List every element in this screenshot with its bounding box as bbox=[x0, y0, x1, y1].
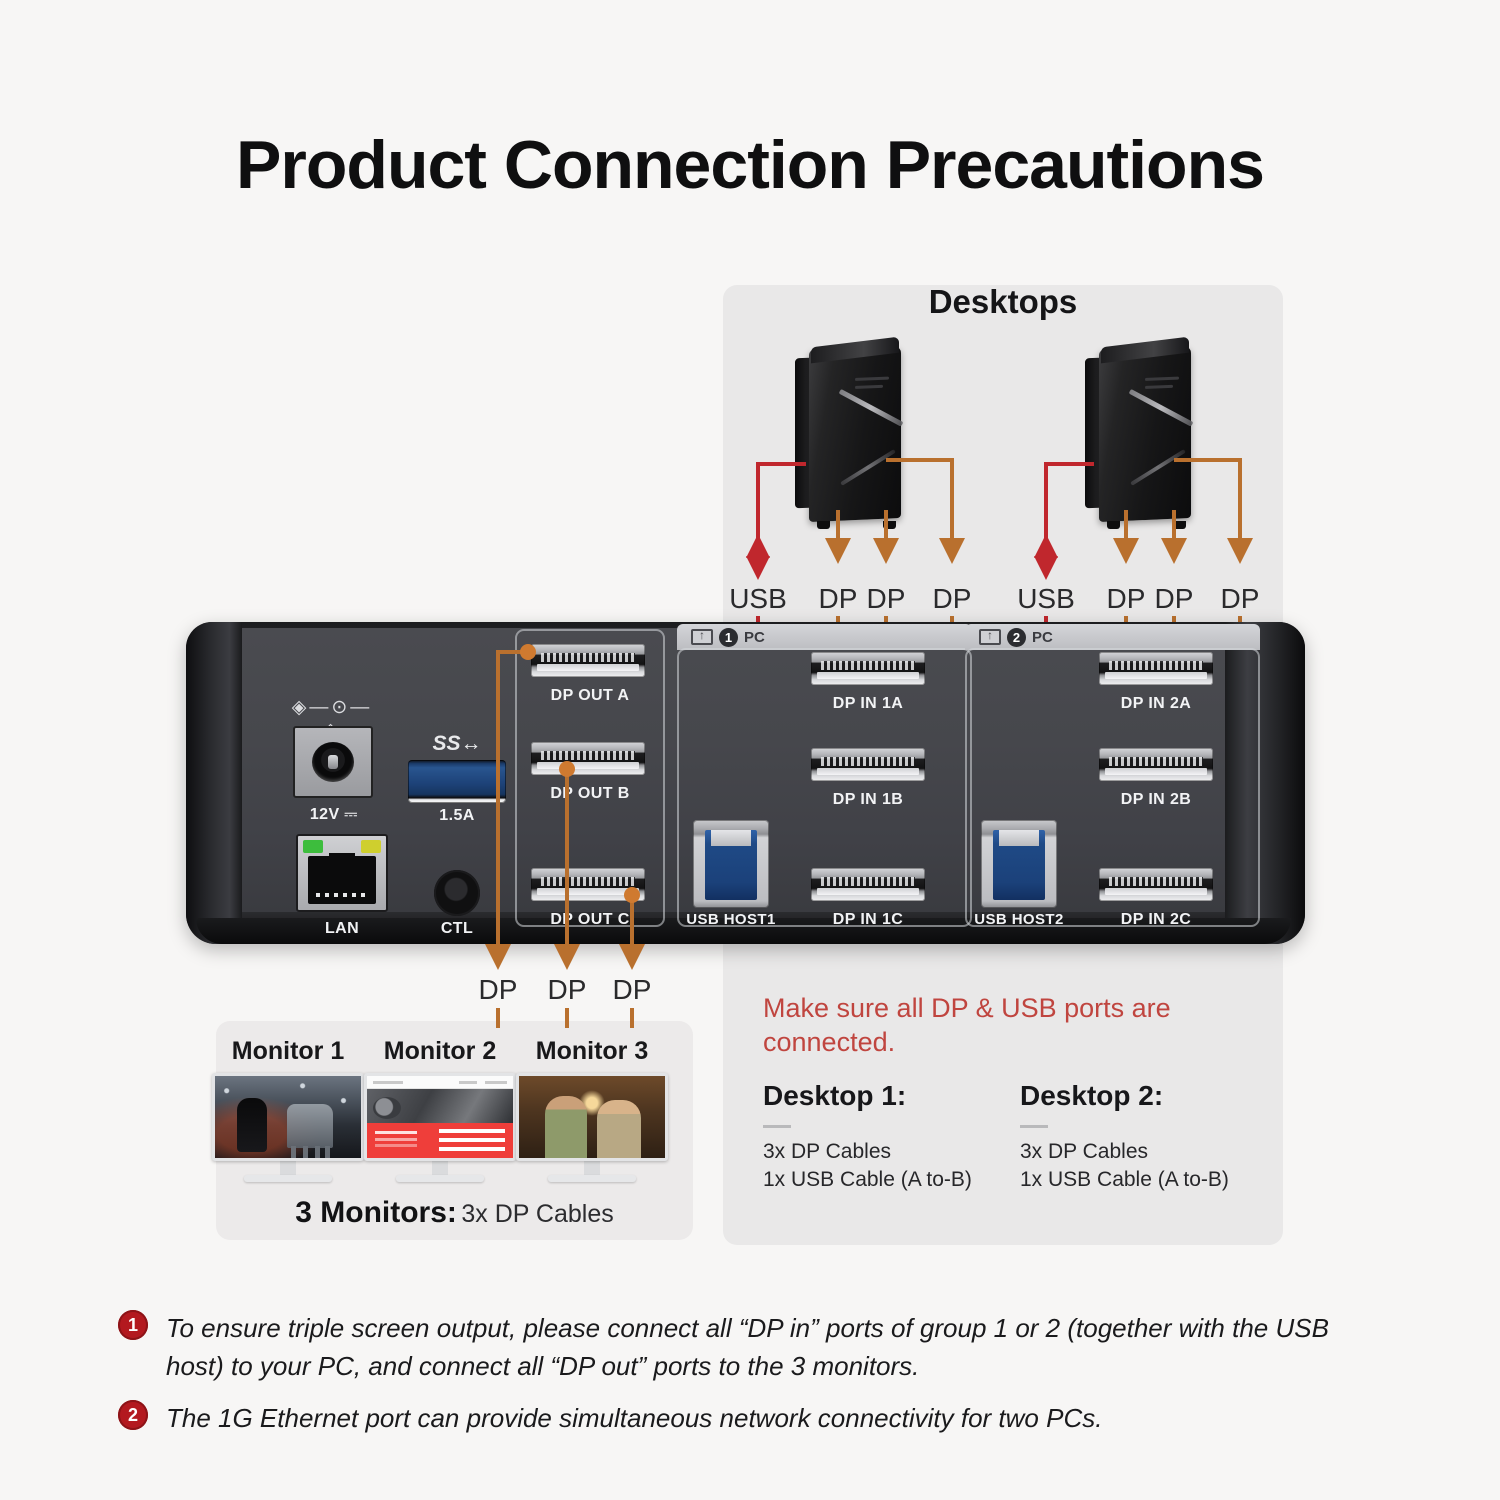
usb-host-2-port[interactable] bbox=[981, 820, 1057, 908]
cable-label-dp-1b: DP bbox=[867, 583, 906, 615]
dp-cable-1c-segment bbox=[886, 458, 954, 462]
cable-label-usb-1: USB bbox=[729, 583, 787, 615]
monitors-caption-rest: 3x DP Cables bbox=[461, 1200, 613, 1228]
group-1-header: 1 PC bbox=[677, 624, 972, 650]
tower-vent-icon bbox=[1145, 385, 1173, 389]
monitor-upload-icon bbox=[979, 629, 1001, 645]
tower-foot bbox=[817, 521, 830, 529]
cable-label-dp-2a: DP bbox=[1107, 583, 1146, 615]
dp-cable-2c-segment bbox=[1174, 458, 1242, 462]
dp-out-a-label: DP OUT A bbox=[515, 687, 665, 705]
usb-b-tab bbox=[999, 830, 1039, 846]
monitor-2-label: Monitor 2 bbox=[364, 1037, 516, 1066]
tower-accent-stripe bbox=[840, 449, 896, 486]
web-red-band-mock bbox=[367, 1123, 513, 1158]
tower-vent-icon bbox=[855, 385, 883, 389]
group-1-pc-label: PC bbox=[744, 629, 765, 646]
infographic-canvas: Product Connection Precautions Desktops bbox=[0, 0, 1500, 1500]
tower-vent-icon bbox=[1145, 377, 1179, 381]
usb-host-1-port[interactable] bbox=[693, 820, 769, 908]
divider bbox=[1020, 1125, 1048, 1128]
power-label: 12V ⎓ bbox=[273, 806, 393, 824]
divider bbox=[763, 1125, 791, 1128]
footnote-1: 1 To ensure triple screen output, please… bbox=[118, 1310, 1388, 1385]
group-2-number-badge: 2 bbox=[1007, 628, 1026, 647]
dc-jack-pin bbox=[328, 755, 338, 769]
monitor-2-screen bbox=[364, 1073, 516, 1161]
dp-in-2b-label: DP IN 2B bbox=[1085, 791, 1227, 809]
usb-cable-2-arrow-up bbox=[1034, 534, 1058, 558]
cable-label-dp-1a: DP bbox=[819, 583, 858, 615]
monitor-1-label: Monitor 1 bbox=[212, 1037, 364, 1066]
dp-out-a-arrow bbox=[485, 944, 511, 970]
desktops-heading: Desktops bbox=[723, 283, 1283, 321]
dp-out-c-arrow bbox=[619, 944, 645, 970]
person-shape bbox=[597, 1100, 641, 1158]
lan-led-green-icon bbox=[303, 840, 323, 853]
desktop-1-requirements: Desktop 1: 3x DP Cables 1x USB Cable (A … bbox=[763, 1080, 1013, 1193]
group-2-pc-label: PC bbox=[1032, 629, 1053, 646]
monitor-2-artwork bbox=[367, 1076, 513, 1158]
footnote-2-text: The 1G Ethernet port can provide simulta… bbox=[166, 1400, 1102, 1438]
dp-cable-1c-arrow bbox=[939, 538, 965, 564]
usb-a-port[interactable] bbox=[408, 760, 506, 803]
dp-in-1b-label: DP IN 1B bbox=[797, 791, 939, 809]
dp-in-2c-label: DP IN 2C bbox=[1085, 911, 1227, 929]
usb-cable-2-segment bbox=[1044, 462, 1048, 544]
footnote-1-badge: 1 bbox=[118, 1310, 148, 1340]
usb-cable-1-segment bbox=[756, 462, 760, 544]
tower-foot bbox=[1107, 521, 1120, 529]
superspeed-usb-icon: SS↔ bbox=[408, 732, 506, 756]
monitors-caption-bold: 3 Monitors: bbox=[295, 1196, 457, 1229]
web-navbar-mock bbox=[367, 1076, 513, 1089]
desktop-tower-2 bbox=[1085, 340, 1205, 525]
dp-in-2a-port[interactable] bbox=[1099, 652, 1213, 685]
dp-cable-2a-arrow bbox=[1113, 538, 1139, 564]
desktop-1-item-0: 3x DP Cables bbox=[763, 1138, 1013, 1166]
monitor-1-screen bbox=[212, 1073, 364, 1161]
cable-label-usb-2: USB bbox=[1017, 583, 1075, 615]
ctl-label: CTL bbox=[407, 920, 507, 938]
monitor-1-artwork bbox=[215, 1076, 361, 1158]
dc-symbol-icon: ⎓ bbox=[344, 806, 356, 823]
dp-out-b-cable bbox=[565, 1008, 569, 1028]
lan-label: LAN bbox=[282, 920, 402, 938]
monitors-caption: 3 Monitors: 3x DP Cables bbox=[216, 1196, 693, 1230]
desktop-1-heading: Desktop 1: bbox=[763, 1080, 1013, 1112]
desktop-2-item-1: 1x USB Cable (A to-B) bbox=[1020, 1166, 1270, 1194]
dp-in-1b-port[interactable] bbox=[811, 748, 925, 781]
monitor-2-stand-base bbox=[396, 1175, 484, 1182]
monitor-3-artwork bbox=[519, 1076, 665, 1158]
monitor-upload-icon bbox=[691, 629, 713, 645]
desktop-2-item-0: 3x DP Cables bbox=[1020, 1138, 1270, 1166]
desktop-2-heading: Desktop 2: bbox=[1020, 1080, 1270, 1112]
tower-body bbox=[809, 346, 901, 522]
dp-in-2a-label: DP IN 2A bbox=[1085, 695, 1227, 713]
figure-shape bbox=[237, 1098, 267, 1152]
person-shape bbox=[545, 1096, 587, 1158]
monitor-3-label: Monitor 3 bbox=[516, 1037, 668, 1066]
cable-label-dp-out-c: DP bbox=[613, 974, 652, 1006]
dp-out-c-label: DP OUT C bbox=[515, 911, 665, 929]
web-text-left-mock bbox=[375, 1131, 417, 1134]
monitor-1-stand-base bbox=[244, 1175, 332, 1182]
dp-in-2b-port[interactable] bbox=[1099, 748, 1213, 781]
usb-cable-1-arrow-down bbox=[746, 556, 770, 580]
cable-label-dp-out-a: DP bbox=[479, 974, 518, 1006]
usb-cable-2-segment bbox=[1046, 462, 1094, 466]
web-hero-image-mock bbox=[367, 1089, 513, 1123]
desktop-2-requirements: Desktop 2: 3x DP Cables 1x USB Cable (A … bbox=[1020, 1080, 1270, 1193]
dp-out-a-port[interactable] bbox=[531, 644, 645, 677]
tower-accent-stripe bbox=[1129, 389, 1194, 427]
cable-label-dp-1c: DP bbox=[933, 583, 972, 615]
tower-vent-icon bbox=[855, 377, 889, 381]
usb-cable-1-segment bbox=[758, 462, 806, 466]
lan-port[interactable] bbox=[296, 834, 388, 912]
tower-body bbox=[1099, 346, 1191, 522]
monitor-3: Monitor 3 bbox=[516, 1073, 668, 1182]
tower-accent-stripe bbox=[839, 389, 904, 427]
usb-cable-2-arrow-down bbox=[1034, 556, 1058, 580]
usb-host-2-label: USB HOST2 bbox=[961, 911, 1077, 928]
cable-label-dp-2c: DP bbox=[1221, 583, 1260, 615]
lan-led-yellow-icon bbox=[361, 840, 381, 853]
kvm-switch-device: ◈—⊙—◇ 12V ⎓ SS↔ 1.5A LAN CTL DP OUT A DP bbox=[186, 622, 1305, 944]
ctl-jack[interactable] bbox=[434, 870, 480, 916]
dp-out-b-label: DP OUT B bbox=[515, 785, 665, 803]
footnote-2-badge: 2 bbox=[118, 1400, 148, 1430]
monitor-2: Monitor 2 bbox=[364, 1073, 516, 1182]
dp-cable-1a-arrow bbox=[825, 538, 851, 564]
dp-out-c-endpoint-dot bbox=[624, 887, 640, 903]
dp-out-b-arrow bbox=[554, 944, 580, 970]
monitor-3-screen bbox=[516, 1073, 668, 1161]
dp-cable-2c-arrow bbox=[1227, 538, 1253, 564]
device-left-bezel bbox=[186, 622, 242, 944]
dp-out-b-cable bbox=[565, 768, 569, 944]
dp-out-a-cable bbox=[496, 652, 500, 944]
dp-cable-2b-arrow bbox=[1161, 538, 1187, 564]
dp-in-1c-label: DP IN 1C bbox=[797, 911, 939, 929]
cable-label-dp-2b: DP bbox=[1155, 583, 1194, 615]
usb-cable-1-arrow-up bbox=[746, 534, 770, 558]
group-2-header: 2 PC bbox=[965, 624, 1260, 650]
page-title: Product Connection Precautions bbox=[0, 126, 1500, 204]
monitor-3-stand-base bbox=[548, 1175, 636, 1182]
monitor-3-stand-neck bbox=[584, 1161, 600, 1175]
dp-in-1a-port[interactable] bbox=[811, 652, 925, 685]
dp-cable-1c-segment bbox=[950, 458, 954, 546]
cable-label-dp-out-b: DP bbox=[548, 974, 587, 1006]
dp-out-b-endpoint-dot bbox=[559, 761, 575, 777]
dp-cable-2c-segment bbox=[1238, 458, 1242, 546]
desktop-1-item-1: 1x USB Cable (A to-B) bbox=[763, 1166, 1013, 1194]
dp-out-c-cable bbox=[630, 1008, 634, 1028]
warning-text: Make sure all DP & USB ports are connect… bbox=[763, 992, 1233, 1060]
dp-cable-1b-arrow bbox=[873, 538, 899, 564]
dp-in-1c-port[interactable] bbox=[811, 868, 925, 901]
walker-shape bbox=[287, 1104, 333, 1148]
power-dc-jack[interactable] bbox=[293, 726, 373, 798]
monitor-1: Monitor 1 bbox=[212, 1073, 364, 1182]
monitor-1-stand-neck bbox=[280, 1161, 296, 1175]
dp-out-b-port[interactable] bbox=[531, 742, 645, 775]
dp-out-a-endpoint-dot bbox=[520, 644, 536, 660]
usb-host-1-label: USB HOST1 bbox=[673, 911, 789, 928]
dp-in-1a-label: DP IN 1A bbox=[797, 695, 939, 713]
group-1-number-badge: 1 bbox=[719, 628, 738, 647]
dp-out-a-cable bbox=[496, 1008, 500, 1028]
desktop-tower-1 bbox=[795, 340, 915, 525]
web-text-right-mock bbox=[439, 1129, 505, 1133]
footnote-2: 2 The 1G Ethernet port can provide simul… bbox=[118, 1400, 1388, 1438]
monitor-2-stand-neck bbox=[432, 1161, 448, 1175]
dp-in-2c-port[interactable] bbox=[1099, 868, 1213, 901]
lan-jack-cavity bbox=[308, 856, 376, 904]
tower-accent-stripe bbox=[1130, 449, 1186, 486]
usb-b-tab bbox=[711, 830, 751, 846]
footnote-1-text: To ensure triple screen output, please c… bbox=[166, 1310, 1388, 1385]
